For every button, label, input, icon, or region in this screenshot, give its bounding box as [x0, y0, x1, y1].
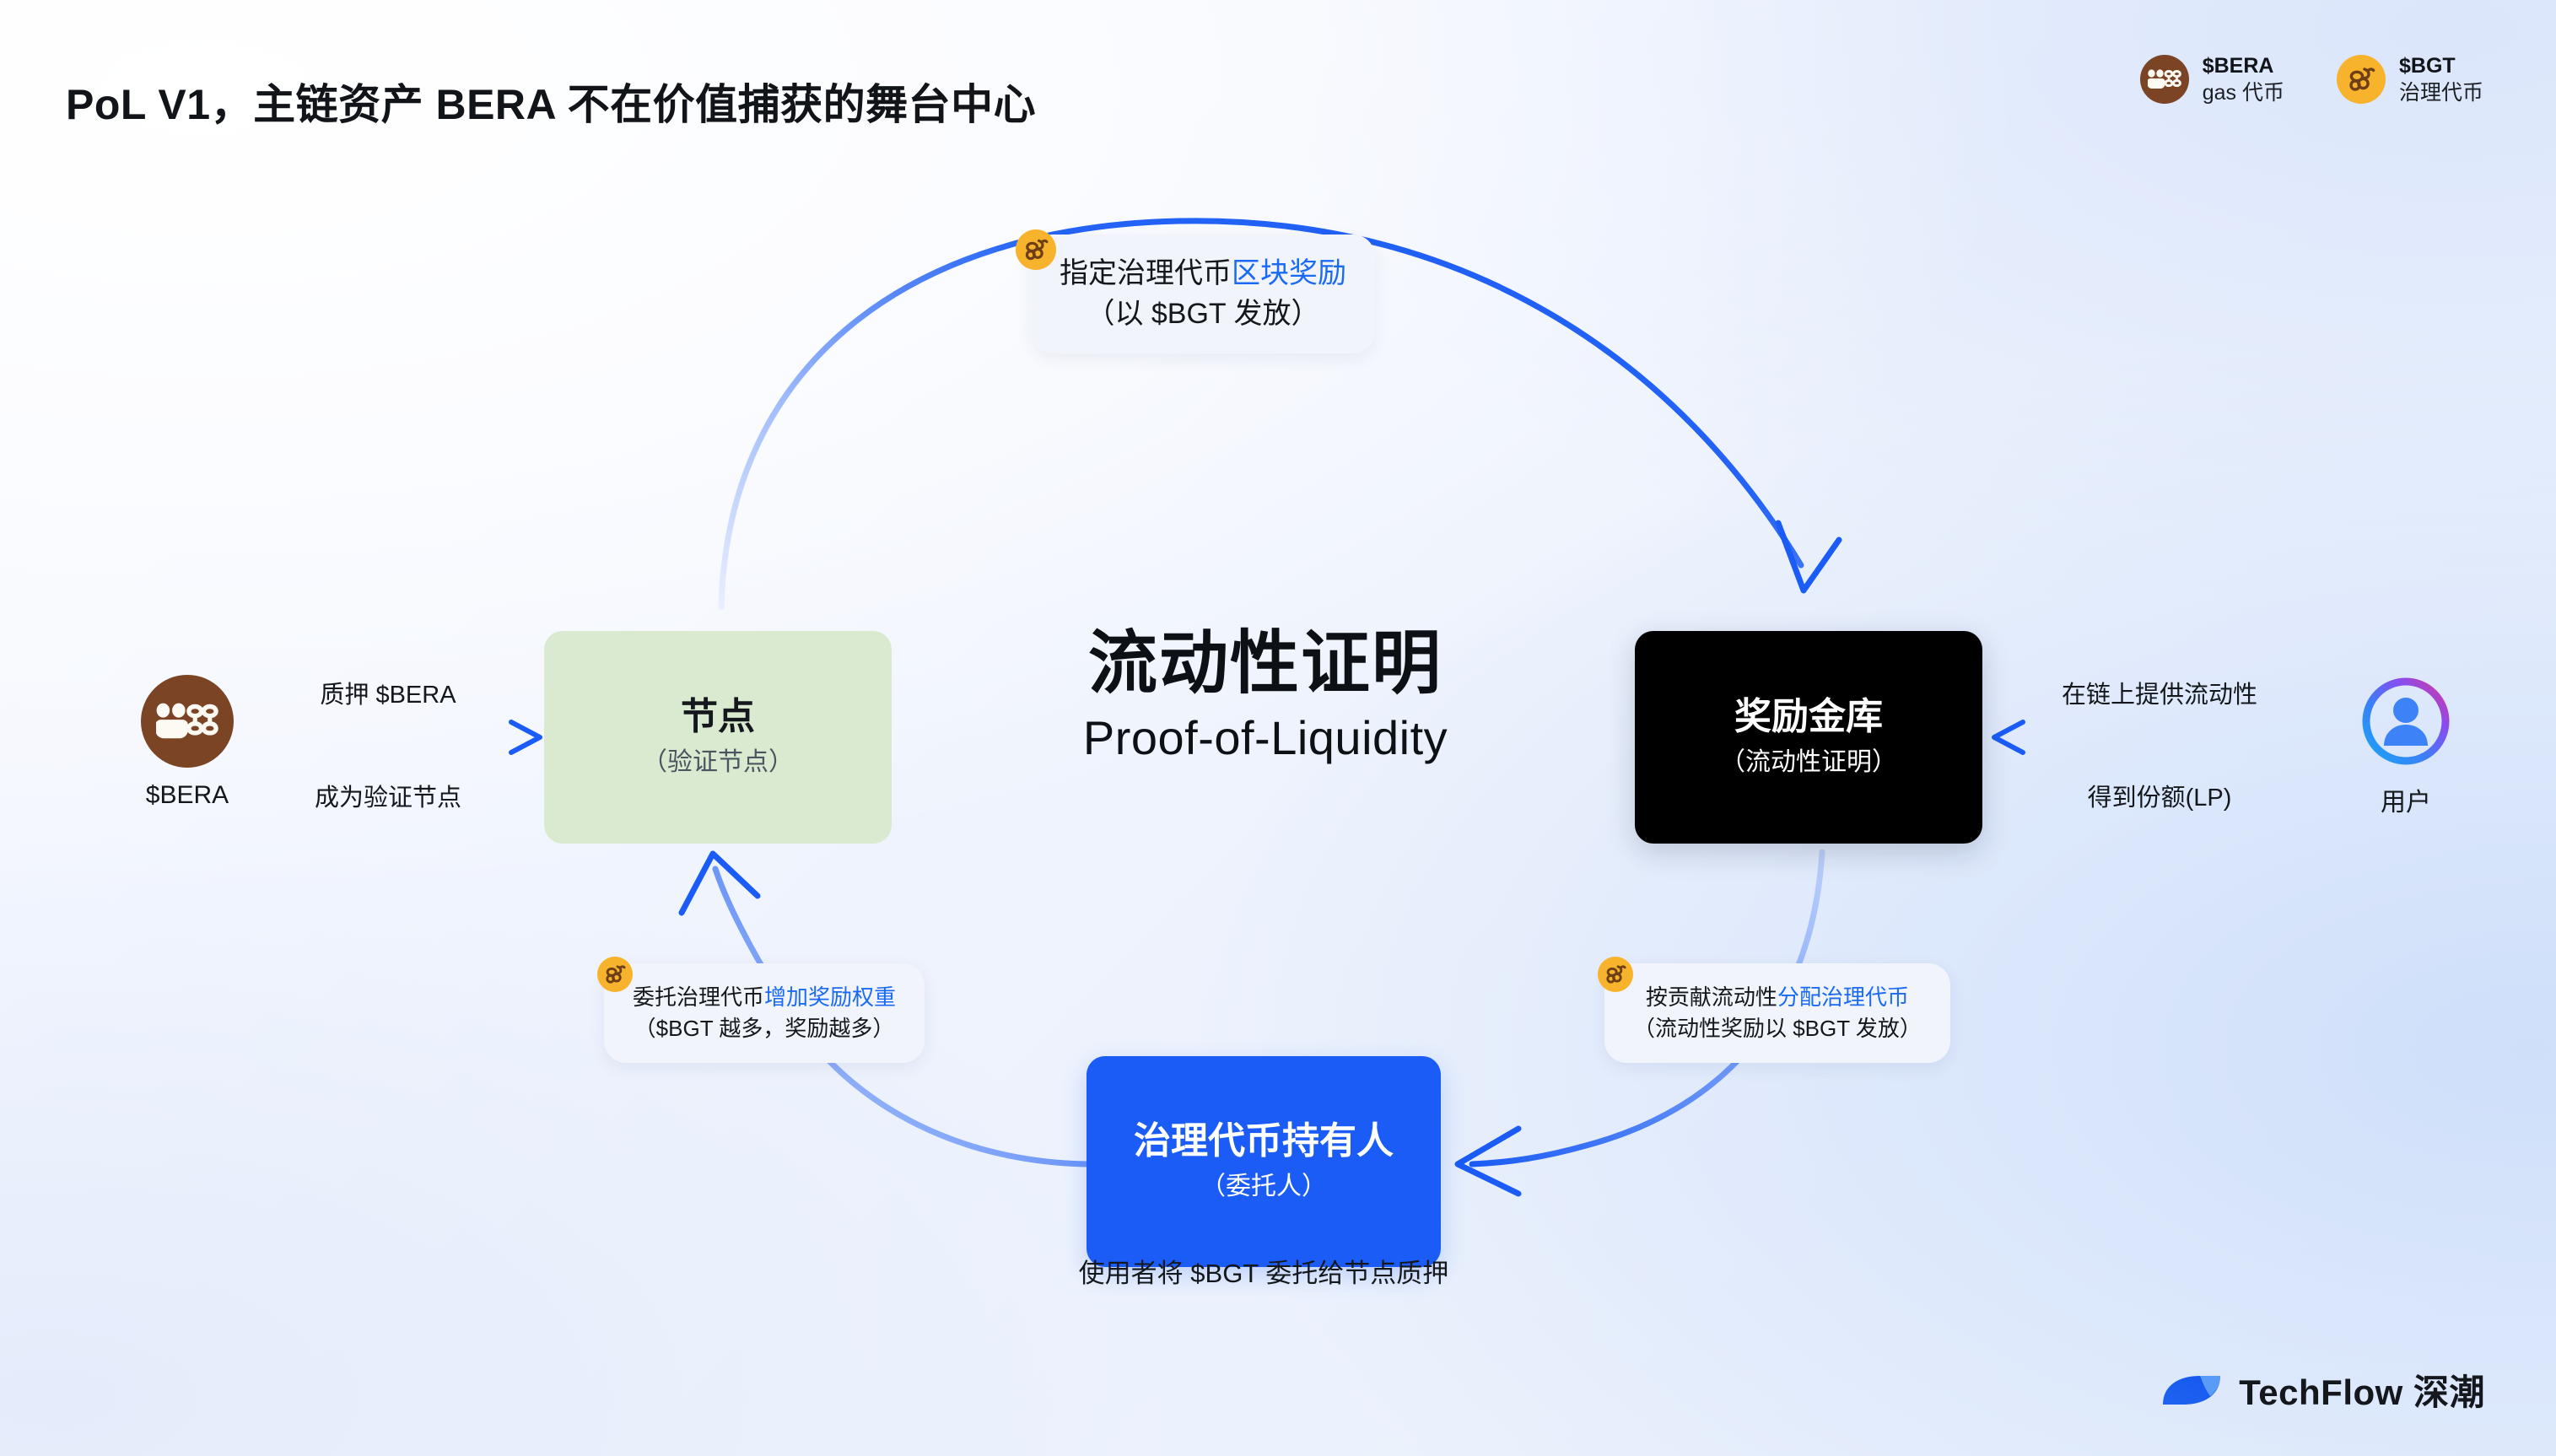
edge-label-provide-liquidity: 在链上提供流动性: [2008, 675, 2311, 710]
node-holder-title: 治理代币持有人: [1134, 1120, 1394, 1163]
node-holder-box[interactable]: 治理代币持有人 （委托人）: [1087, 1056, 1441, 1267]
center-title-cn: 流动性证明: [928, 626, 1603, 702]
node-vault-subtitle: （流动性证明）: [1720, 746, 1897, 779]
edge-label-stake-bera: 质押 $BERA: [253, 675, 523, 710]
node-validator-subtitle: （验证节点）: [642, 746, 794, 779]
token-legend: $BERA gas 代币 $BGT 治理代币: [2140, 52, 2483, 106]
techflow-leaf-logo: [2161, 1371, 2222, 1410]
node-validator-title: 节点: [681, 696, 755, 739]
info-card-block-rewards: 指定治理代币区块奖励 （以 $BGT 发放）: [1031, 235, 1375, 353]
center-heading: 流动性证明 Proof-of-Liquidity: [928, 626, 1603, 764]
bottom-caption: 使用者将 $BGT 委托给节点质押: [1011, 1252, 1517, 1290]
legend-item-bera: $BERA gas 代币: [2140, 52, 2284, 106]
info-card-line1-highlight: 区块奖励: [1232, 257, 1346, 289]
info-card-line2: （流动性奖励以 $BGT 发放）: [1633, 1013, 1922, 1044]
info-card-distribute-bgt: 按贡献流动性分配治理代币 （流动性奖励以 $BGT 发放）: [1604, 963, 1950, 1063]
node-holder-subtitle: （委托人）: [1200, 1170, 1327, 1203]
bgt-token-icon: [2337, 55, 2386, 104]
legend-item-bgt: $BGT 治理代币: [2337, 52, 2483, 106]
info-card-line1-highlight: 分配治理代币: [1777, 984, 1909, 1010]
node-vault-box[interactable]: 奖励金库 （流动性证明）: [1635, 631, 1982, 844]
info-card-line1: 委托治理代币增加奖励权重: [633, 982, 896, 1013]
actor-user: 用户: [2330, 675, 2482, 818]
info-card-line1-highlight: 增加奖励权重: [764, 984, 896, 1010]
actor-user-label: 用户: [2330, 781, 2482, 818]
arrow-user-to-vault: [1994, 722, 2313, 752]
legend-role: 治理代币: [2399, 79, 2483, 106]
bgt-token-icon: [1016, 229, 1056, 270]
bgt-token-icon: [1598, 957, 1633, 992]
info-card-line1: 按贡献流动性分配治理代币: [1633, 982, 1922, 1013]
legend-symbol: $BERA: [2203, 52, 2284, 79]
page-title: PoL V1，主链资产 BERA 不在价值捕获的舞台中心: [66, 71, 1036, 132]
diagram-canvas: PoL V1，主链资产 BERA 不在价值捕获的舞台中心: [0, 0, 2556, 1456]
node-validator-box[interactable]: 节点 （验证节点）: [544, 631, 892, 844]
footer-brand: TechFlow 深潮: [2161, 1364, 2485, 1416]
node-vault-title: 奖励金库: [1734, 696, 1883, 739]
info-card-delegate-weight: 委托治理代币增加奖励权重 （$BGT 越多，奖励越多）: [604, 963, 925, 1063]
bera-token-icon: [2140, 55, 2189, 104]
info-card-line2: （$BGT 越多，奖励越多）: [633, 1013, 896, 1044]
edge-label-become-validator: 成为验证节点: [253, 778, 523, 813]
center-title-en: Proof-of-Liquidity: [928, 712, 1603, 764]
info-card-line1: 指定治理代币区块奖励: [1060, 253, 1346, 294]
legend-symbol: $BGT: [2399, 52, 2483, 79]
edge-label-receive-lp: 得到份额(LP): [2008, 778, 2311, 813]
actor-bera-label: $BERA: [111, 781, 263, 810]
info-card-line1-plain: 委托治理代币: [633, 984, 764, 1010]
info-card-line2: （以 $BGT 发放）: [1060, 294, 1346, 334]
legend-role: gas 代币: [2203, 79, 2284, 106]
bgt-token-icon: [597, 957, 633, 992]
actor-bera: $BERA: [111, 675, 263, 810]
user-avatar-icon: [2359, 675, 2452, 768]
footer-brand-text: TechFlow 深潮: [2239, 1364, 2485, 1416]
info-card-line1-plain: 按贡献流动性: [1646, 984, 1777, 1010]
arrow-bera-to-validator: [253, 722, 540, 752]
bera-token-icon: [141, 675, 234, 768]
info-card-line1-plain: 指定治理代币: [1060, 257, 1232, 289]
